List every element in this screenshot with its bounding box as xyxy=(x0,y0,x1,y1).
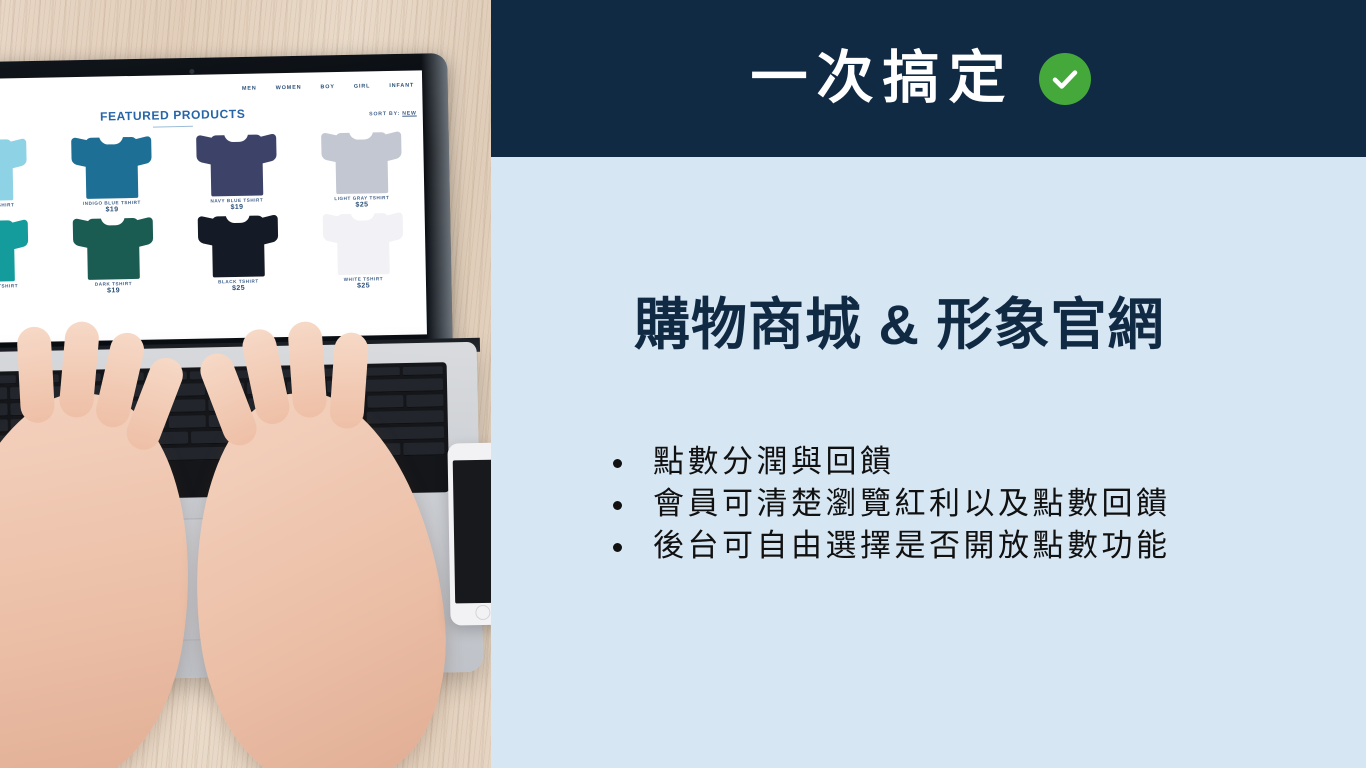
product-price: $19 xyxy=(51,286,176,295)
product-price: $19 xyxy=(0,289,51,298)
phone-home-button xyxy=(475,605,490,620)
product-card[interactable]: LIGHT GRAY TSHIRT $25 xyxy=(298,126,425,209)
list-item: 後台可自由選擇是否開放點數功能 xyxy=(608,525,1171,567)
product-card[interactable]: DARK TSHIRT $19 xyxy=(50,212,177,295)
phone-screen xyxy=(453,460,491,604)
tshirt-icon xyxy=(0,215,28,283)
tshirt-icon xyxy=(72,213,153,281)
feature-bullet-list: 點數分潤與回饋 會員可清楚瀏覽紅利以及點數回饋 後台可自由選擇是否開放點數功能 xyxy=(608,441,1171,567)
tshirt-icon xyxy=(71,132,152,200)
tshirt-icon xyxy=(196,129,277,197)
laptop-photo: WEBSHOP MEN WOMEN BOY GIRL INFANT FEATUR… xyxy=(0,0,491,768)
nav-item-girl[interactable]: GIRL xyxy=(354,83,371,89)
smartphone-icon xyxy=(447,442,491,625)
product-price: $25 xyxy=(176,284,301,293)
list-item: 會員可清楚瀏覽紅利以及點數回饋 xyxy=(608,483,1171,525)
tshirt-icon xyxy=(322,208,403,276)
sort-by-control[interactable]: SORT BY: NEW xyxy=(369,111,417,118)
product-card[interactable]: INDIGO BLUE TSHIRT $19 xyxy=(48,131,175,214)
laptop-screen: WEBSHOP MEN WOMEN BOY GIRL INFANT FEATUR… xyxy=(0,70,427,344)
webshop-nav[interactable]: MEN WOMEN BOY GIRL INFANT xyxy=(242,83,414,92)
product-card[interactable]: NAVY BLUE TSHIRT $19 xyxy=(173,129,300,212)
sort-by-value[interactable]: NEW xyxy=(402,111,417,117)
nav-item-men[interactable]: MEN xyxy=(242,86,257,92)
sort-by-label: SORT BY: xyxy=(369,111,400,118)
nav-item-boy[interactable]: BOY xyxy=(320,84,335,90)
tshirt-icon xyxy=(0,134,27,202)
nav-item-infant[interactable]: INFANT xyxy=(389,83,414,89)
slide: WEBSHOP MEN WOMEN BOY GIRL INFANT FEATUR… xyxy=(0,0,1366,768)
product-card[interactable]: WHITE TSHIRT $25 xyxy=(300,207,427,290)
check-circle-icon xyxy=(1039,53,1091,105)
header-band: 一次搞定 xyxy=(491,0,1366,157)
product-row: LIGHT BLUE TSHIRT $19 INDIGO BLUE TSHIRT… xyxy=(0,126,425,217)
product-row: LIGHT GREEN TSHIRT $19 DARK TSHIRT $19 xyxy=(0,207,426,298)
list-item: 點數分潤與回饋 xyxy=(608,441,1171,483)
product-card[interactable]: LIGHT GREEN TSHIRT $19 xyxy=(0,215,51,298)
page-title: 購物商城 & 形象官網 xyxy=(634,296,1165,355)
product-grid: LIGHT BLUE TSHIRT $19 INDIGO BLUE TSHIRT… xyxy=(0,126,426,298)
heading-underline xyxy=(153,126,193,128)
tshirt-icon xyxy=(197,210,278,278)
header-title: 一次搞定 xyxy=(751,50,1015,107)
webcam-icon xyxy=(189,69,194,74)
product-card[interactable]: BLACK TSHIRT $25 xyxy=(175,210,302,293)
nav-item-women[interactable]: WOMEN xyxy=(276,85,302,91)
product-price: $25 xyxy=(301,281,426,290)
tshirt-icon xyxy=(321,127,402,195)
content-panel: 一次搞定 購物商城 & 形象官網 點數分潤與回饋 會員可清楚瀏覽紅利以及點數回饋… xyxy=(491,0,1366,768)
product-card[interactable]: LIGHT BLUE TSHIRT $19 xyxy=(0,134,50,217)
